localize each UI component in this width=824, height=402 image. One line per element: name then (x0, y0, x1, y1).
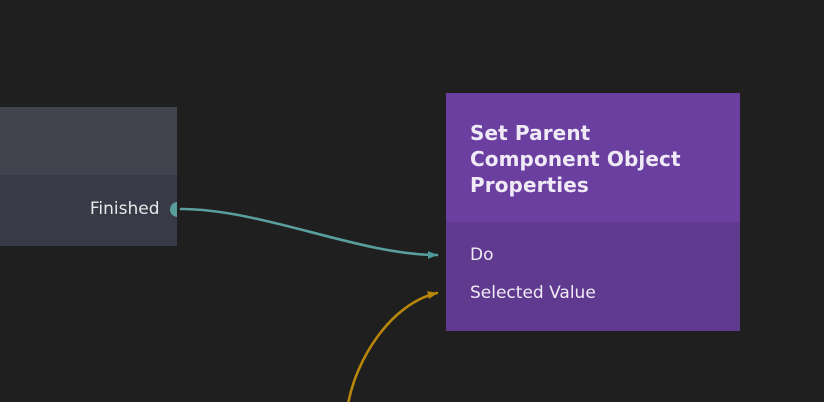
input-port-selected-value-label: Selected Value (446, 285, 596, 302)
node-target-body: Do Selected Value (446, 222, 740, 331)
node-target-title: Set Parent Component Object Properties (470, 120, 716, 198)
node-target-header[interactable]: Set Parent Component Object Properties (446, 93, 740, 222)
node-set-parent-component-object-properties[interactable]: Set Parent Component Object Properties D… (446, 93, 740, 331)
node-source[interactable]: Finished (0, 107, 177, 246)
circle-port-icon[interactable] (170, 202, 178, 217)
node-graph-canvas[interactable]: Finished Set Parent Component Object Pro… (0, 0, 824, 402)
node-source-body: Finished (0, 175, 177, 246)
node-source-header[interactable] (0, 107, 177, 175)
output-port-finished-label: Finished (90, 201, 170, 218)
input-port-do[interactable]: Do (446, 247, 494, 264)
input-port-do-label: Do (446, 247, 494, 264)
input-port-selected-value[interactable]: Selected Value (446, 285, 596, 302)
output-port-finished[interactable]: Finished (90, 201, 177, 218)
